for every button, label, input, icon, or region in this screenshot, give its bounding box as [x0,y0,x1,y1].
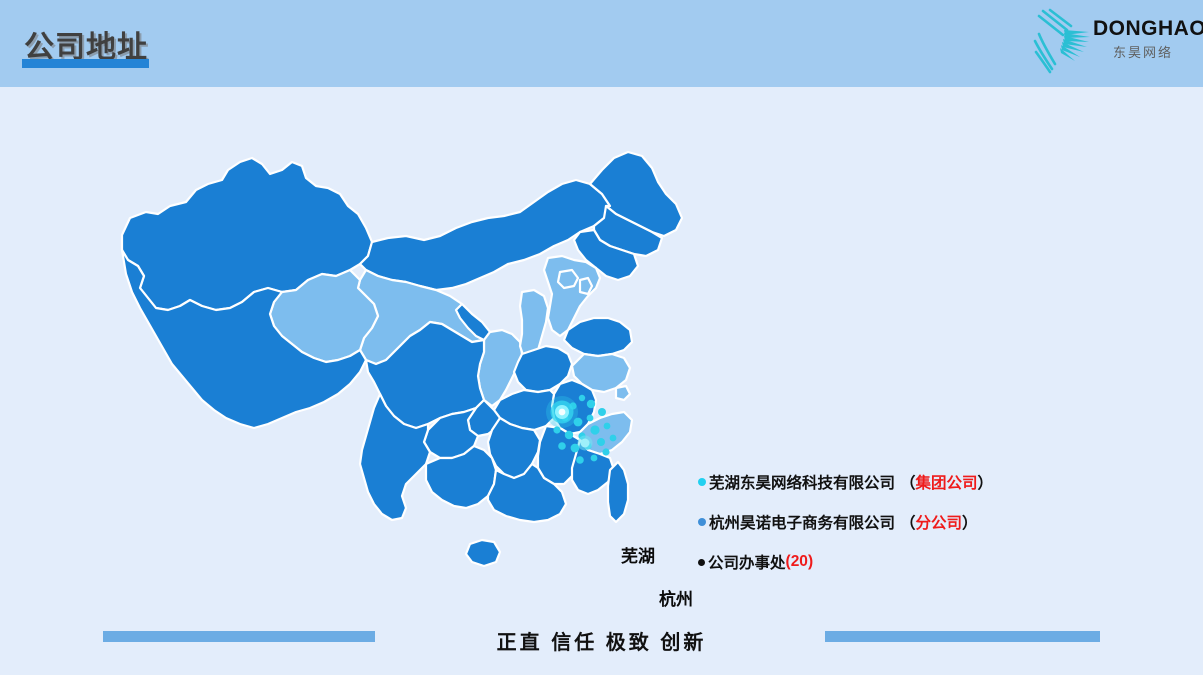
city-label-hangzhou: 杭州 [659,585,693,610]
china-map-svg [110,140,710,610]
city-label-wuhu: 芜湖 [621,542,655,567]
legend-open-paren: （ [900,471,916,493]
office-dot [558,442,566,450]
office-dot [565,431,573,439]
legend-item-offices: 公司办事处 ( 20 ) [698,542,1028,582]
office-dot [597,438,605,446]
legend-item-group-company: 芜湖东昊网络科技有限公司 （ 集团公司 ） [698,462,1028,502]
slide-canvas: 公司地址 DONGH [0,0,1203,675]
hangzhou-marker [578,436,593,451]
office-dot [604,423,611,430]
brand-logo: DONGHAO 东昊网络 [1033,6,1193,76]
legend-bullet-icon [698,478,706,486]
office-dot [598,408,606,416]
header-band [0,0,1203,87]
legend-tag: 分公司 [916,511,963,533]
province-hainan [466,540,500,566]
office-dot [590,425,599,434]
province-tianjin [580,278,592,294]
legend-close-paren: ） [962,511,978,533]
province-beijing [558,270,578,288]
legend: 芜湖东昊网络科技有限公司 （ 集团公司 ） 杭州昊诺电子商务有限公司 （ 分公司… [698,462,1028,582]
logo-title: DONGHAO [1093,18,1193,40]
logo-text-block: DONGHAO 东昊网络 [1093,18,1193,61]
feather-wing-icon [1033,8,1095,74]
office-dot [602,448,609,455]
office-dot [587,400,595,408]
province-shandong [564,318,632,356]
legend-close-paren: ） [978,471,994,493]
footer-bar-right [825,631,1100,642]
office-dot [610,435,617,442]
province-shanghai [616,386,630,400]
legend-close-paren: ) [808,553,813,571]
office-dot [576,456,584,464]
title-underline [22,59,149,68]
office-dot [579,395,585,401]
legend-open-paren: （ [900,511,916,533]
logo-subtitle: 东昊网络 [1093,42,1193,61]
office-dot [591,455,598,462]
china-map: 芜湖 杭州 [110,140,710,610]
legend-item-branch-company: 杭州昊诺电子商务有限公司 （ 分公司 ） [698,502,1028,542]
legend-bullet-icon [698,518,706,526]
legend-company-name: 芜湖东昊网络科技有限公司 [709,471,895,493]
legend-tag: 20 [791,553,808,571]
legend-company-name: 公司办事处 [708,551,786,573]
wuhu-marker [546,396,578,428]
province-taiwan [608,462,628,522]
legend-tag: 集团公司 [916,471,978,493]
office-dot [587,415,594,422]
legend-bullet-icon [698,559,705,566]
legend-company-name: 杭州昊诺电子商务有限公司 [709,511,895,533]
